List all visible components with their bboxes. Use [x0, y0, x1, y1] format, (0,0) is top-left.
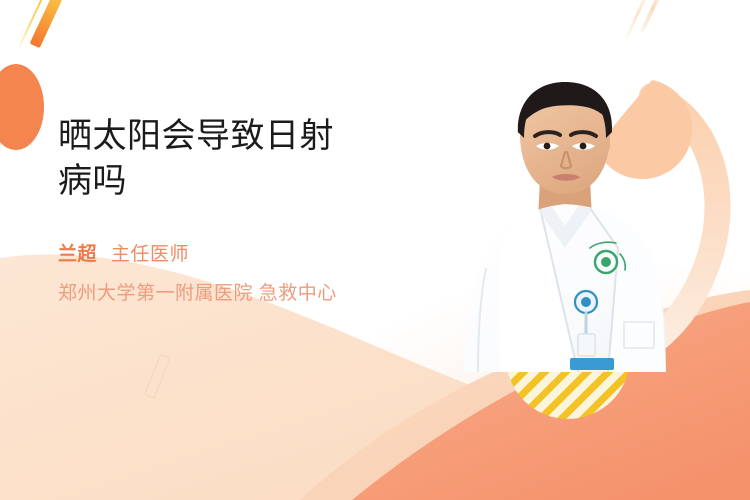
banner-card: 晒太阳会导致日射 病吗 兰超主任医师 郑州大学第一附属医院 急救中心 — [0, 0, 750, 500]
text-block: 晒太阳会导致日射 病吗 兰超主任医师 郑州大学第一附属医院 急救中心 — [58, 114, 438, 308]
white-coat — [464, 204, 666, 372]
pupil-right — [580, 143, 587, 150]
doctor-affiliation: 郑州大学第一附属医院 急救中心 — [58, 279, 438, 308]
pupil-left — [544, 143, 551, 150]
page-title: 晒太阳会导致日射 病吗 — [58, 114, 438, 204]
doctor-name: 兰超 — [58, 244, 97, 265]
doctor-info: 兰超主任医师 郑州大学第一附属医院 急救中心 — [58, 240, 438, 308]
doctor-portrait — [440, 72, 690, 372]
doctor-title: 主任医师 — [111, 244, 189, 265]
doctor-name-row: 兰超主任医师 — [58, 240, 438, 269]
badge-name-strip — [570, 358, 614, 370]
